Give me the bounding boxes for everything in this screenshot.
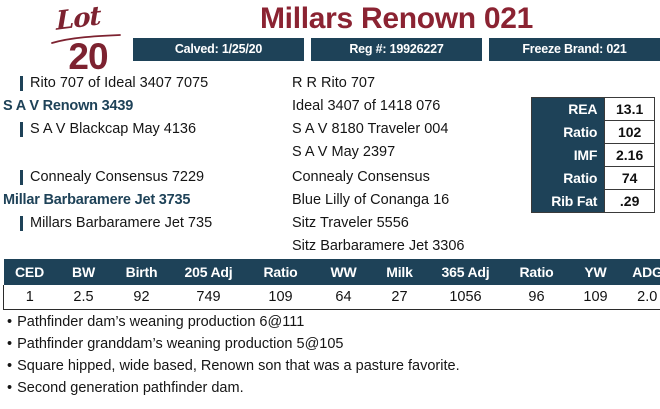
page-title: Millars Renown 021	[133, 3, 660, 35]
col-header-birth: Birth	[112, 259, 172, 285]
pedigree-sire-grandparents: R R Rito 707 Ideal 3407 of 1418 076 S A …	[292, 72, 448, 164]
table-row: Ratio 102	[532, 121, 654, 144]
pedigree-dam-name: Millar Barbaramere Jet 3735	[0, 189, 212, 212]
pedigree-grandparent: Sitz Traveler 5556	[292, 212, 464, 235]
pedigree-sire-lower: S A V Blackcap May 4136	[0, 118, 208, 141]
carcass-value-ratio-imf: 74	[605, 167, 654, 190]
cell-birth: 92	[112, 285, 172, 310]
pedigree-sire-upper-label: Rito 707 of Ideal 3407 7075	[30, 75, 208, 91]
pedigree-sire-name: S A V Renown 3439	[0, 95, 208, 118]
col-header-ced: CED	[4, 259, 56, 285]
col-header-365-adj: 365 Adj	[428, 259, 504, 285]
pedigree-grandparent: Ideal 3407 of 1418 076	[292, 95, 448, 118]
cell-ced: 1	[4, 285, 56, 310]
pedigree-grandparent: Sitz Barbaramere Jet 3306	[292, 235, 464, 258]
pedigree-grandparent: Blue Lilly of Conanga 16	[292, 189, 464, 212]
performance-table: CED BW Birth 205 Adj Ratio WW Milk 365 A…	[3, 259, 657, 310]
bullet-icon: •	[7, 358, 12, 374]
pedigree-dam-upper-label: Connealy Consensus 7229	[30, 169, 204, 185]
note-text: Second generation pathfinder dam.	[17, 380, 244, 396]
list-item: •Square hipped, wide based, Renown son t…	[5, 355, 655, 377]
table-header-row: CED BW Birth 205 Adj Ratio WW Milk 365 A…	[4, 259, 660, 285]
pill-registration: Reg #: 19926227	[311, 38, 482, 61]
cell-bw: 2.5	[56, 285, 112, 310]
col-header-adg: ADG	[622, 259, 660, 285]
col-header-milk: Milk	[372, 259, 428, 285]
lot-number: 20	[36, 38, 140, 75]
pedigree-grandparent: Connealy Consensus	[292, 166, 464, 189]
pedigree-grandparent: R R Rito 707	[292, 72, 448, 95]
pedigree-dam-lower: Millars Barbaramere Jet 735	[0, 212, 212, 235]
indent-tick-icon	[20, 170, 23, 185]
lot-badge: Lot 20	[36, 4, 140, 76]
pedigree-sire-upper: Rito 707 of Ideal 3407 7075	[0, 72, 208, 95]
carcass-label-ratio-imf: Ratio	[532, 167, 605, 190]
table-row: REA 13.1	[532, 98, 654, 121]
carcass-label-imf: IMF	[532, 144, 605, 167]
col-header-yw: YW	[570, 259, 622, 285]
col-header-ratio-ww: Ratio	[246, 259, 316, 285]
carcass-label-ratio-rea: Ratio	[532, 121, 605, 144]
note-text: Pathfinder dam’s weaning production 6@11…	[17, 314, 304, 330]
col-header-bw: BW	[56, 259, 112, 285]
cell-205-adj: 749	[172, 285, 246, 310]
pedigree-sire-lower-label: S A V Blackcap May 4136	[30, 121, 196, 137]
note-text: Pathfinder granddam’s weaning production…	[17, 336, 343, 352]
pedigree-grandparent: S A V May 2397	[292, 141, 448, 164]
carcass-value-rea: 13.1	[605, 98, 654, 121]
pedigree-grandparent: S A V 8180 Traveler 004	[292, 118, 448, 141]
carcass-label-rib-fat: Rib Fat	[532, 190, 605, 213]
bullet-icon: •	[7, 380, 12, 396]
table-row: 1 2.5 92 749 109 64 27 1056 96 109 2.0	[4, 285, 660, 310]
pedigree-sire-group: Rito 707 of Ideal 3407 7075 S A V Renown…	[0, 72, 208, 141]
lot-script-label: Lot	[56, 3, 101, 35]
header-pill-row: Calved: 1/25/20 Reg #: 19926227 Freeze B…	[133, 38, 660, 61]
pill-freeze-brand: Freeze Brand: 021	[489, 38, 660, 61]
pedigree-dam-group: Connealy Consensus 7229 Millar Barbarame…	[0, 166, 212, 235]
table-row: IMF 2.16	[532, 144, 654, 167]
pill-calved: Calved: 1/25/20	[133, 38, 304, 61]
table-row: Rib Fat .29	[532, 190, 654, 213]
cell-ratio-yw: 96	[504, 285, 570, 310]
carcass-value-rib-fat: .29	[605, 190, 654, 213]
indent-tick-icon	[20, 76, 23, 91]
notes-list: •Pathfinder dam’s weaning production 6@1…	[5, 311, 655, 399]
cell-ww: 64	[316, 285, 372, 310]
sale-catalog-lot-page: Lot 20 Millars Renown 021 Calved: 1/25/2…	[0, 0, 660, 409]
cell-milk: 27	[372, 285, 428, 310]
pedigree-dam-upper: Connealy Consensus 7229	[0, 166, 212, 189]
col-header-ratio-yw: Ratio	[504, 259, 570, 285]
carcass-value-imf: 2.16	[605, 144, 654, 167]
col-header-205-adj: 205 Adj	[172, 259, 246, 285]
carcass-value-ratio-rea: 102	[605, 121, 654, 144]
bullet-icon: •	[7, 314, 12, 330]
list-item: •Pathfinder dam’s weaning production 6@1…	[5, 311, 655, 333]
indent-tick-icon	[20, 122, 23, 137]
cell-yw: 109	[570, 285, 622, 310]
carcass-stats-table: REA 13.1 Ratio 102 IMF 2.16 Ratio 74 Rib…	[531, 97, 655, 213]
list-item: •Second generation pathfinder dam.	[5, 377, 655, 399]
cell-365-adj: 1056	[428, 285, 504, 310]
indent-tick-icon	[20, 216, 23, 231]
list-item: •Pathfinder granddam’s weaning productio…	[5, 333, 655, 355]
note-text: Square hipped, wide based, Renown son th…	[17, 358, 460, 374]
cell-ratio-ww: 109	[246, 285, 316, 310]
carcass-label-rea: REA	[532, 98, 605, 121]
col-header-ww: WW	[316, 259, 372, 285]
pedigree-dam-lower-label: Millars Barbaramere Jet 735	[30, 215, 212, 231]
cell-adg: 2.0	[622, 285, 660, 310]
bullet-icon: •	[7, 336, 12, 352]
table-row: Ratio 74	[532, 167, 654, 190]
pedigree-dam-grandparents: Connealy Consensus Blue Lilly of Conanga…	[292, 166, 464, 258]
